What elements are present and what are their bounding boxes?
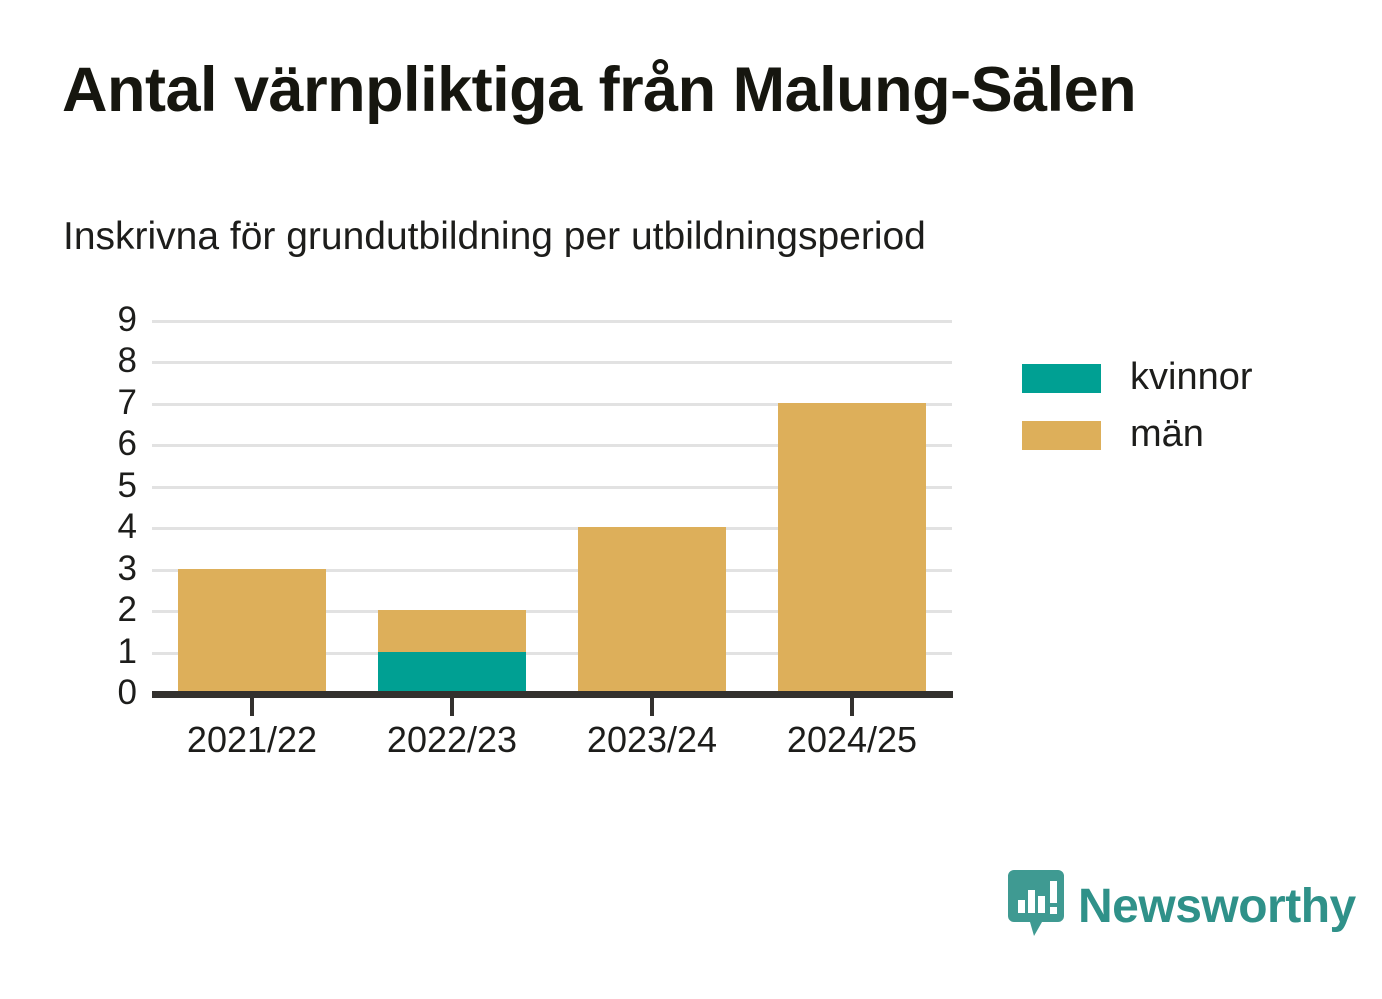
bar-chart-speech-bubble-icon (1008, 870, 1064, 944)
gridline (152, 320, 952, 323)
bar-segment-män[interactable] (778, 403, 926, 693)
x-tick (250, 698, 254, 716)
chart-page: Antal värnpliktiga från Malung-Sälen Ins… (0, 0, 1382, 999)
x-axis-labels: 2021/222022/232023/242024/25 (0, 718, 1382, 768)
bar-2023-24[interactable] (578, 527, 726, 693)
legend-swatch-män (1022, 421, 1101, 450)
bar-segment-kvinnor[interactable] (378, 652, 526, 693)
x-tick (650, 698, 654, 716)
gridline (152, 361, 952, 364)
bar-segment-män[interactable] (378, 610, 526, 651)
x-tick-label: 2023/24 (552, 718, 752, 762)
x-tick-label: 2024/25 (752, 718, 952, 762)
bar-2024-25[interactable] (778, 403, 926, 693)
y-tick-label: 8 (118, 343, 137, 378)
legend: kvinnormän (1022, 358, 1322, 472)
legend-item-män[interactable]: män (1022, 415, 1322, 472)
bar-2022-23[interactable] (378, 610, 526, 693)
legend-swatch-kvinnor (1022, 364, 1101, 393)
newsworthy-logo[interactable]: Newsworthy (1008, 868, 1356, 946)
y-tick-label: 3 (118, 551, 137, 586)
legend-item-kvinnor[interactable]: kvinnor (1022, 358, 1322, 415)
x-tick-label: 2022/23 (352, 718, 552, 762)
y-tick-label: 7 (118, 385, 137, 420)
plot-area (152, 320, 952, 693)
y-tick-label: 0 (118, 675, 137, 710)
bar-segment-män[interactable] (578, 527, 726, 693)
page-title: Antal värnpliktiga från Malung-Sälen (62, 54, 1136, 126)
y-tick-label: 1 (118, 634, 137, 669)
bar-2021-22[interactable] (178, 569, 326, 693)
brand-name: Newsworthy (1078, 881, 1356, 933)
y-tick-label: 9 (118, 302, 137, 337)
x-tick (450, 698, 454, 716)
x-tick-label: 2021/22 (152, 718, 352, 762)
bar-segment-män[interactable] (178, 569, 326, 693)
x-tick (850, 698, 854, 716)
y-tick-label: 4 (118, 509, 137, 544)
y-axis-labels: 0123456789 (75, 320, 137, 693)
y-tick-label: 2 (118, 592, 137, 627)
y-tick-label: 6 (118, 426, 137, 461)
x-axis-line (152, 691, 953, 698)
legend-label: män (1130, 410, 1204, 458)
y-tick-label: 5 (118, 468, 137, 503)
page-subtitle: Inskrivna för grundutbildning per utbild… (63, 213, 926, 261)
legend-label: kvinnor (1130, 353, 1253, 401)
